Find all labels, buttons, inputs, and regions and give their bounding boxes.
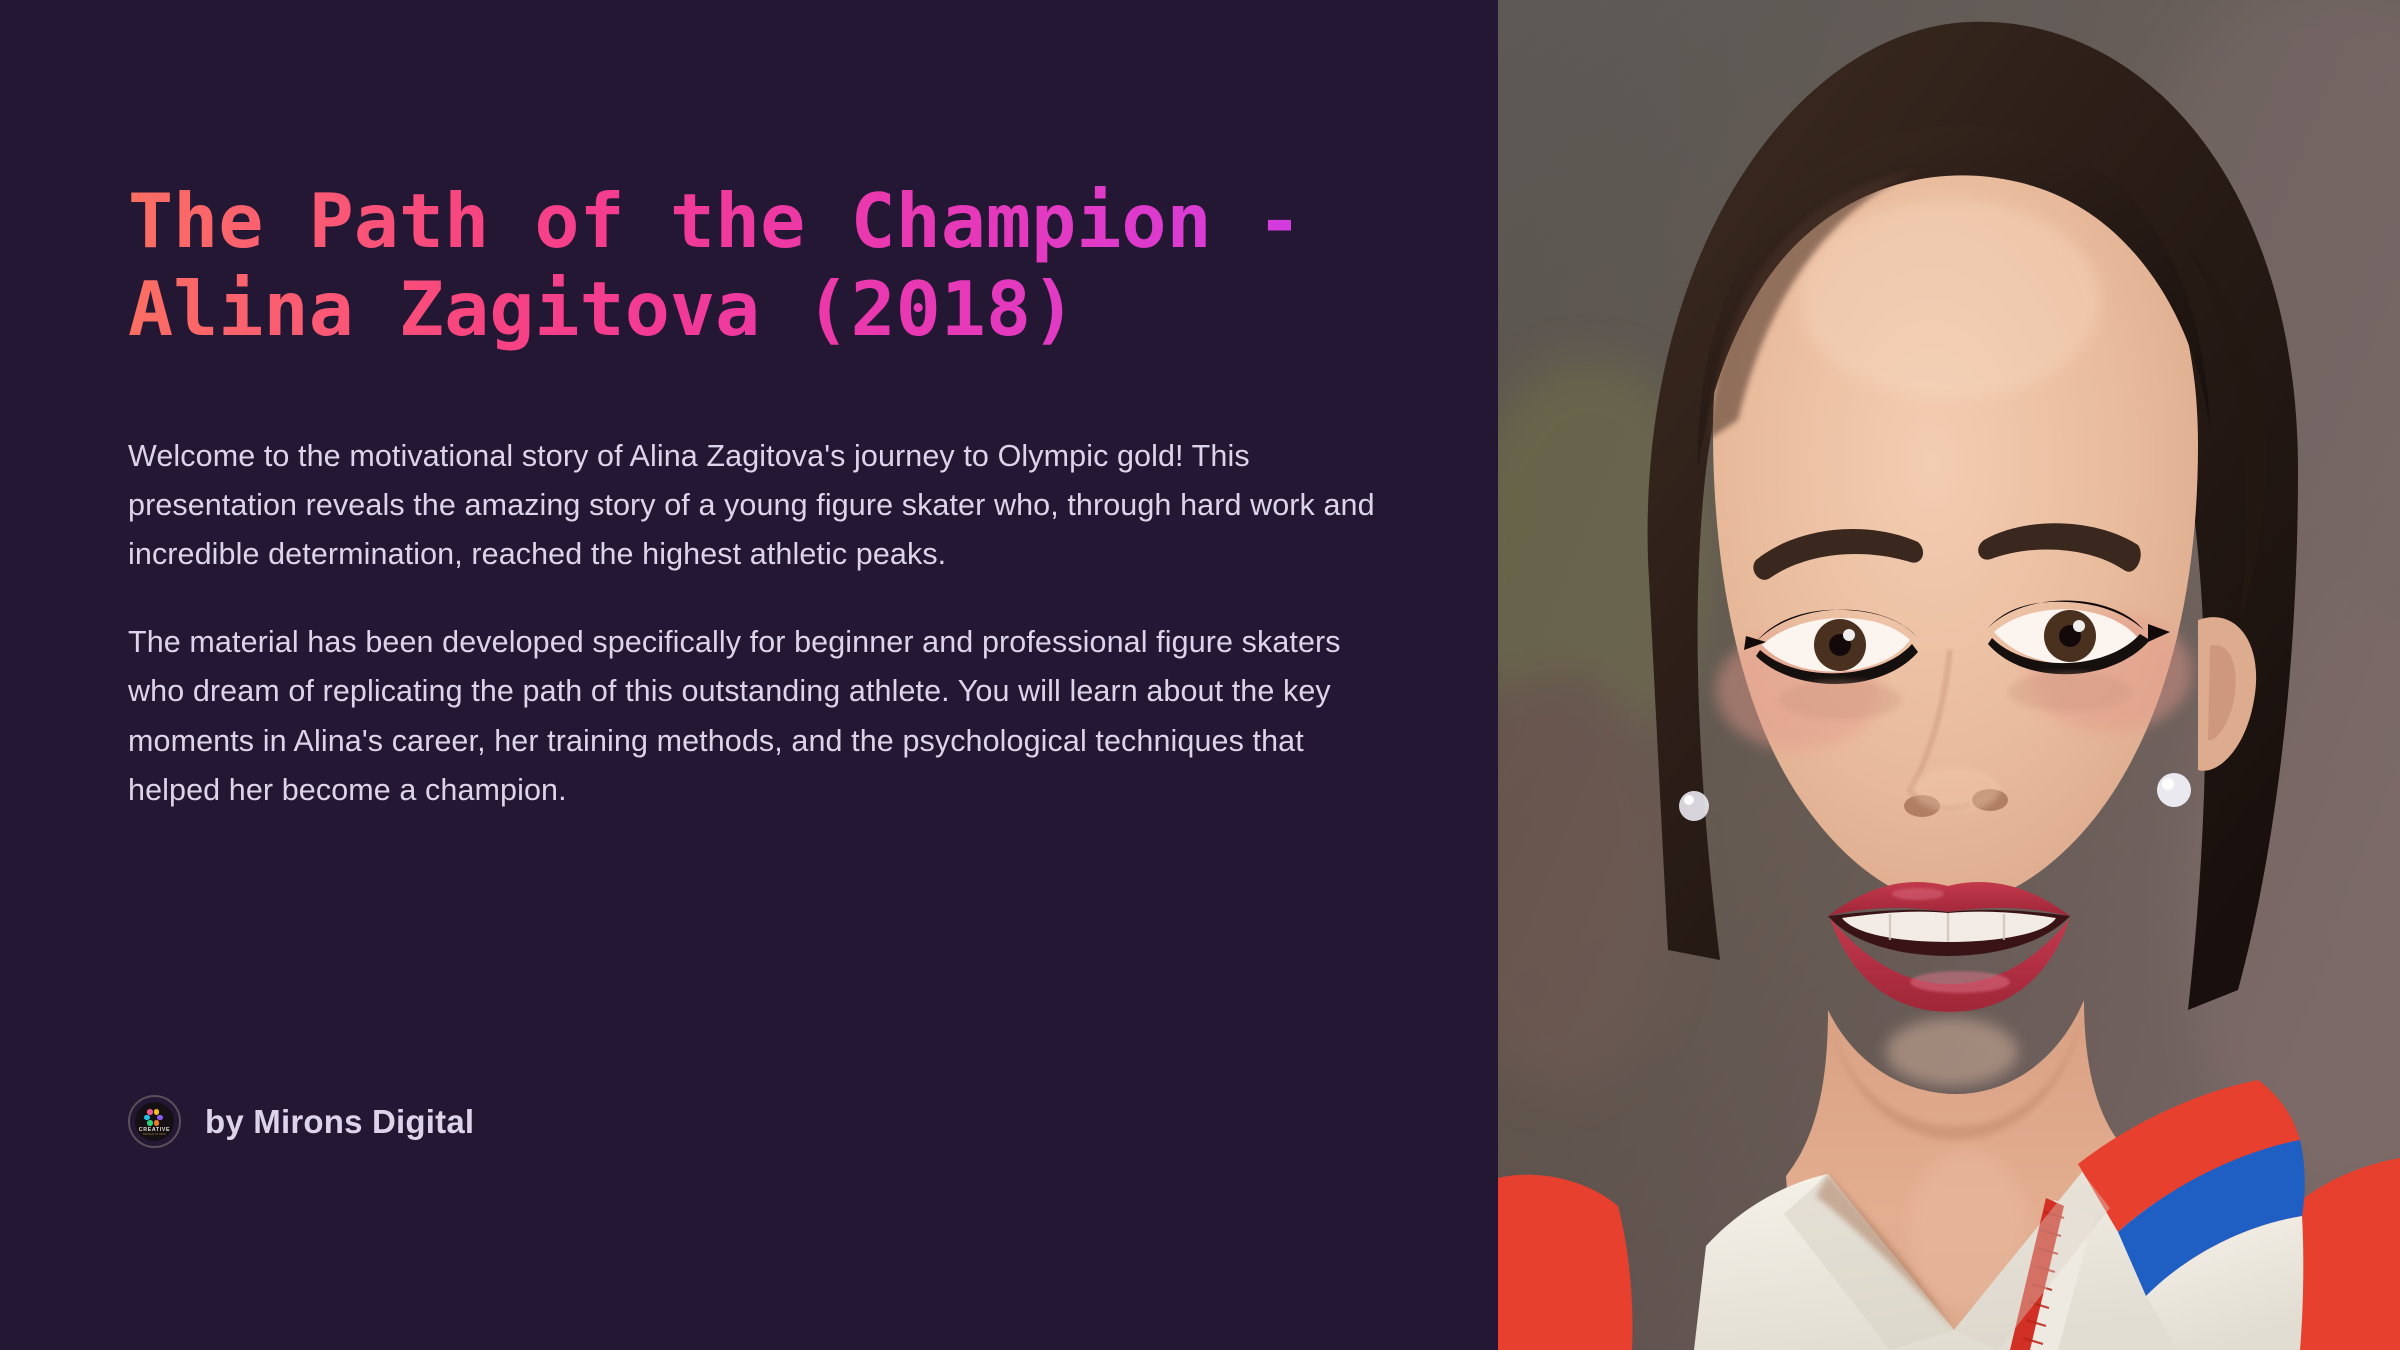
logo-dot-6 <box>154 1120 160 1126</box>
body-copy: Welcome to the motivational story of Ali… <box>128 432 1383 816</box>
portrait-photo <box>1498 0 2400 1350</box>
brand-logo-icon: CREATIVE DESIGN STUDIO <box>128 1095 181 1148</box>
logo-dot-2 <box>154 1109 160 1115</box>
audience-paragraph: The material has been developed specific… <box>128 618 1383 816</box>
byline-label: by Mirons Digital <box>205 1103 474 1141</box>
brand-logo-inner: CREATIVE DESIGN STUDIO <box>135 1102 174 1141</box>
logo-wordmark: CREATIVE <box>135 1127 174 1133</box>
text-panel: The Path of the Champion - Alina Zagitov… <box>0 0 1498 1350</box>
logo-dot-5 <box>147 1120 153 1126</box>
intro-paragraph: Welcome to the motivational story of Ali… <box>128 432 1383 580</box>
presentation-slide: The Path of the Champion - Alina Zagitov… <box>0 0 2400 1350</box>
logo-subtitle: DESIGN STUDIO <box>135 1133 174 1136</box>
byline: CREATIVE DESIGN STUDIO by Mirons Digital <box>128 1095 474 1148</box>
page-title: The Path of the Champion - Alina Zagitov… <box>128 178 1458 354</box>
portrait-illustration <box>1498 0 2400 1350</box>
logo-dot-1 <box>147 1109 153 1115</box>
logo-dot-4 <box>157 1115 163 1121</box>
